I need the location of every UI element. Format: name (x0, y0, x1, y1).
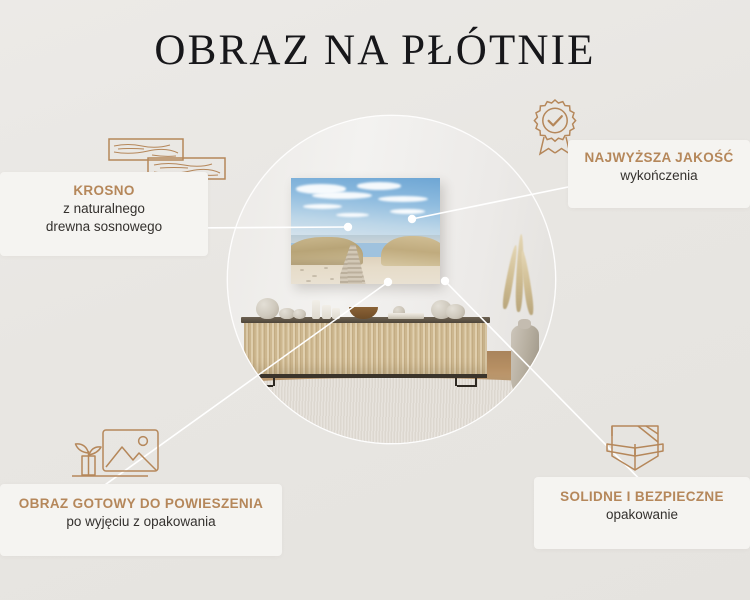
callout-title-krosno: KROSNO (0, 183, 208, 200)
cardboard-box-icon (598, 420, 672, 480)
product-photo-circle (228, 116, 555, 443)
decor-vase-large (256, 298, 279, 319)
callout-subtitle-gotowy: po wyjęciu z opakowania (0, 513, 282, 531)
canvas-artwork (291, 178, 440, 284)
page-title: OBRAZ NA PŁÓTNIE (0, 26, 750, 75)
callout-subtitle-krosno-line2: drewna sosnowego (0, 218, 208, 236)
callout-card-gotowy: OBRAZ GOTOWY DO POWIESZENIA po wyjęciu z… (0, 484, 282, 556)
callout-subtitle-opakowanie: opakowanie (534, 506, 750, 524)
sideboard-furniture (241, 317, 490, 386)
decor-candle-short (332, 308, 340, 318)
framed-picture-plant-icon (70, 428, 162, 484)
artwork-dune-right (381, 236, 441, 266)
decor-books (388, 313, 424, 319)
callout-card-krosno: KROSNO z naturalnego drewna sosnowego (0, 172, 208, 256)
callout-subtitle-krosno-line1: z naturalnego (0, 200, 208, 218)
room-scene (228, 116, 555, 443)
callout-subtitle-jakosc: wykończenia (568, 167, 750, 185)
decor-bowl-small-2 (293, 309, 307, 319)
callout-title-jakosc: NAJWYŻSZA JAKOŚĆ (568, 150, 750, 167)
decor-vase-right-2 (446, 304, 464, 318)
decor-candle-tall (312, 300, 321, 318)
decor-candle-mid (322, 305, 331, 319)
callout-title-gotowy: OBRAZ GOTOWY DO POWIESZENIA (0, 496, 282, 513)
pampas-vase (511, 325, 539, 394)
callout-card-jakosc: NAJWYŻSZA JAKOŚĆ wykończenia (568, 140, 750, 208)
callout-card-opakowanie: SOLIDNE I BEZPIECZNE opakowanie (534, 477, 750, 549)
callout-title-opakowanie: SOLIDNE I BEZPIECZNE (534, 489, 750, 506)
rug (228, 378, 555, 443)
infographic-canvas: OBRAZ NA PŁÓTNIE (0, 0, 750, 600)
